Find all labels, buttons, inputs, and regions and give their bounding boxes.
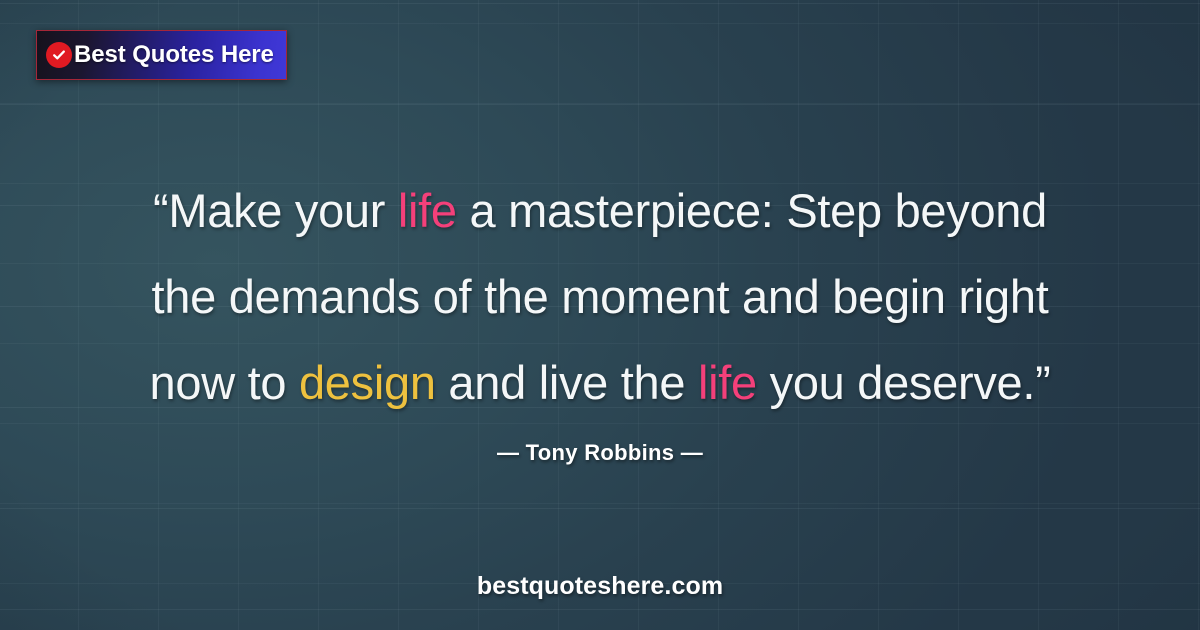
footer-website: bestquoteshere.com [0,572,1200,601]
quote-line: “Make your life a masterpiece: Step beyo… [70,168,1130,254]
quote-author: — Tony Robbins — [0,440,1200,466]
quote-segment: you deserve.” [757,356,1051,409]
quote-segment: “Make your [153,184,398,237]
check-circle-icon [46,42,72,68]
logo-badge[interactable]: Best Quotes Here [36,30,287,80]
quote-segment: a masterpiece: Step beyond [457,184,1047,237]
quote-segment: the demands of the moment and begin righ… [152,270,1049,323]
quote-highlight-word: design [299,356,436,409]
quote-text-block: “Make your life a masterpiece: Step beyo… [0,168,1200,426]
quote-line: now to design and live the life you dese… [70,340,1130,426]
quote-highlight-word: life [398,184,457,237]
logo-label: Best Quotes Here [74,41,274,69]
quote-segment: now to [150,356,299,409]
quote-segment: and live the [436,356,698,409]
quote-highlight-word: life [698,356,757,409]
quote-line: the demands of the moment and begin righ… [70,254,1130,340]
quote-card: Best Quotes Here “Make your life a maste… [0,0,1200,630]
